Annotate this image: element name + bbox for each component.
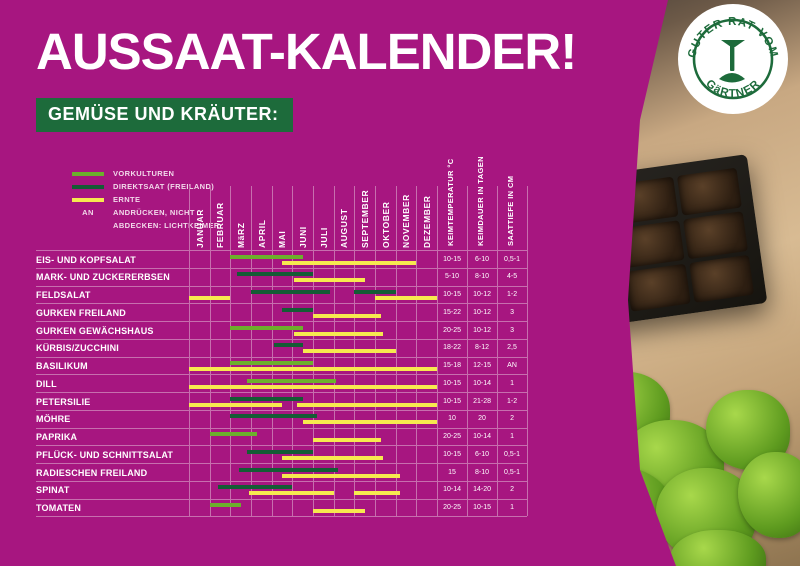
- month-header-september: SEPTEMBER: [360, 190, 370, 248]
- cell-saattiefe-0: 0,5-1: [497, 256, 527, 263]
- grid-line-horizontal: [36, 428, 527, 429]
- grid-line-horizontal: [36, 499, 527, 500]
- cell-saattiefe-9: 2: [497, 415, 527, 422]
- month-header-april: APRIL: [257, 190, 267, 248]
- cell-keimtemperatur-0: 10-15: [437, 256, 467, 263]
- grid-line-horizontal: [36, 357, 527, 358]
- cell-saattiefe-10: 1: [497, 433, 527, 440]
- bar-direktsaat-2-0: [251, 290, 330, 294]
- bar-ernte-3-1: [313, 314, 381, 318]
- cell-saattiefe-5: 2,5: [497, 344, 527, 351]
- grid-line-horizontal: [36, 445, 527, 446]
- grid-line-horizontal: [36, 463, 527, 464]
- bar-ernte-7-1: [189, 385, 437, 389]
- cell-saattiefe-1: 4-5: [497, 273, 527, 280]
- bar-vorkulturen-10-0: [210, 432, 258, 436]
- bar-direktsaat-8-0: [230, 397, 302, 401]
- cell-keimdauer-14: 10-15: [467, 504, 497, 511]
- bar-ernte-10-1: [313, 438, 381, 442]
- grid-line-horizontal: [36, 286, 527, 287]
- cell-keimdauer-4: 10-12: [467, 327, 497, 334]
- grid-line-horizontal: [36, 516, 527, 517]
- logo-badge: GUTER RAT VOM GäRTNER: [678, 4, 788, 114]
- bar-vorkulturen-0-0: [230, 255, 302, 259]
- bar-direktsaat-2-1: [354, 290, 395, 294]
- legend-swatch-vorkulturen: [72, 172, 104, 176]
- cell-keimtemperatur-1: 5-10: [437, 273, 467, 280]
- cell-keimdauer-7: 10-14: [467, 380, 497, 387]
- cell-keimtemperatur-14: 20-25: [437, 504, 467, 511]
- row-label-7: DILL: [36, 379, 57, 389]
- bar-direktsaat-9-0: [230, 414, 317, 418]
- cell-saattiefe-2: 1-2: [497, 291, 527, 298]
- cell-keimdauer-13: 14-20: [467, 486, 497, 493]
- row-label-14: TOMATEN: [36, 503, 81, 513]
- grid-line-vertical: [230, 186, 231, 516]
- cell-saattiefe-4: 3: [497, 327, 527, 334]
- bar-direktsaat-12-0: [239, 468, 338, 472]
- side-column-header-1: KEIMDAUER IN TAGEN: [476, 158, 485, 246]
- side-column-header-0: KEIMTEMPERATUR °C: [446, 158, 455, 246]
- grid-line-horizontal: [36, 268, 527, 269]
- grid-line-vertical: [396, 186, 397, 516]
- cell-keimdauer-11: 6-10: [467, 451, 497, 458]
- bar-direktsaat-5-0: [274, 343, 303, 347]
- bar-ernte-9-1: [303, 420, 437, 424]
- cell-keimdauer-9: 20: [467, 415, 497, 422]
- month-header-juni: JUNI: [298, 190, 308, 248]
- legend-item-vorkulturen: VORKULTUREN: [72, 167, 220, 180]
- grid-line-horizontal: [36, 250, 527, 251]
- bar-ernte-8-2: [297, 403, 438, 407]
- cell-keimtemperatur-10: 20-25: [437, 433, 467, 440]
- cell-keimdauer-10: 10-14: [467, 433, 497, 440]
- bar-ernte-0-1: [282, 261, 416, 265]
- cell-keimtemperatur-4: 20-25: [437, 327, 467, 334]
- cell-keimdauer-0: 6-10: [467, 256, 497, 263]
- cell-keimdauer-12: 8-10: [467, 469, 497, 476]
- row-label-12: RADIESCHEN FREILAND: [36, 468, 147, 478]
- month-header-februar: FEBRUAR: [215, 190, 225, 248]
- cell-saattiefe-11: 0,5-1: [497, 451, 527, 458]
- bar-ernte-2-2: [189, 296, 230, 300]
- cell-keimdauer-5: 8-12: [467, 344, 497, 351]
- legend-swatch-ernte: [72, 198, 104, 202]
- grid-line-vertical: [416, 186, 417, 516]
- row-label-9: MÖHRE: [36, 414, 71, 424]
- bar-ernte-14-1: [313, 509, 365, 513]
- grid-line-horizontal: [36, 321, 527, 322]
- grid-line-vertical: [210, 186, 211, 516]
- bar-ernte-12-1: [282, 474, 400, 478]
- month-header-oktober: OKTOBER: [381, 190, 391, 248]
- cell-keimdauer-8: 21-28: [467, 398, 497, 405]
- bar-ernte-13-1: [249, 491, 334, 495]
- cell-keimtemperatur-6: 15-18: [437, 362, 467, 369]
- grid-line-horizontal: [36, 410, 527, 411]
- side-column-header-2: SAATTIEFE IN CM: [506, 158, 515, 246]
- cell-keimtemperatur-9: 10: [437, 415, 467, 422]
- cell-saattiefe-6: AN: [497, 362, 527, 369]
- bar-direktsaat-13-0: [218, 485, 292, 489]
- cell-keimtemperatur-11: 10-15: [437, 451, 467, 458]
- bar-direktsaat-3-0: [282, 308, 313, 312]
- month-header-juli: JULI: [319, 190, 329, 248]
- month-header-dezember: DEZEMBER: [422, 190, 432, 248]
- row-label-1: MARK- UND ZUCKERERBSEN: [36, 272, 170, 282]
- cell-keimdauer-2: 10-12: [467, 291, 497, 298]
- row-label-3: GURKEN FREILAND: [36, 308, 126, 318]
- legend-swatch-direktsaat: [72, 185, 104, 189]
- cell-saattiefe-13: 2: [497, 486, 527, 493]
- row-label-0: EIS- UND KOPFSALAT: [36, 255, 136, 265]
- cell-keimtemperatur-7: 10-15: [437, 380, 467, 387]
- cell-saattiefe-7: 1: [497, 380, 527, 387]
- bar-ernte-13-2: [354, 491, 400, 495]
- bar-ernte-1-1: [294, 278, 364, 282]
- cell-keimdauer-3: 10-12: [467, 309, 497, 316]
- cell-saattiefe-12: 0,5-1: [497, 469, 527, 476]
- row-label-10: PAPRIKA: [36, 432, 77, 442]
- cell-keimtemperatur-12: 15: [437, 469, 467, 476]
- bar-ernte-8-1: [189, 403, 282, 407]
- month-header-januar: JANUAR: [195, 190, 205, 248]
- cell-keimtemperatur-5: 18-22: [437, 344, 467, 351]
- bar-direktsaat-11-0: [247, 450, 313, 454]
- month-header-mai: MAI: [277, 190, 287, 248]
- bar-ernte-2-3: [375, 296, 437, 300]
- grid-line-vertical: [527, 186, 528, 516]
- grid-line-horizontal: [36, 481, 527, 482]
- section-subtitle: GEMÜSE UND KRÄUTER:: [36, 98, 293, 132]
- row-label-4: GURKEN GEWÄCHSHAUS: [36, 326, 154, 336]
- bar-ernte-11-1: [282, 456, 383, 460]
- month-header-november: NOVEMBER: [401, 190, 411, 248]
- grid-line-vertical: [189, 186, 190, 516]
- cell-saattiefe-14: 1: [497, 504, 527, 511]
- bar-vorkulturen-4-0: [230, 326, 302, 330]
- bar-vorkulturen-6-0: [230, 361, 313, 365]
- grid-line-horizontal: [36, 392, 527, 393]
- cell-keimtemperatur-8: 10-15: [437, 398, 467, 405]
- row-label-8: PETERSILIE: [36, 397, 91, 407]
- bar-ernte-5-1: [303, 349, 396, 353]
- row-label-5: KÜRBIS/ZUCCHINI: [36, 343, 119, 353]
- bar-vorkulturen-14-0: [210, 503, 241, 507]
- month-header-august: AUGUST: [339, 190, 349, 248]
- grid-line-horizontal: [36, 303, 527, 304]
- cell-keimtemperatur-2: 10-15: [437, 291, 467, 298]
- cell-saattiefe-8: 1-2: [497, 398, 527, 405]
- bar-vorkulturen-7-0: [247, 379, 336, 383]
- shovel-icon: GUTER RAT VOM GäRTNER: [683, 9, 783, 109]
- grid-line-horizontal: [36, 374, 527, 375]
- bar-direktsaat-1-0: [237, 272, 314, 276]
- month-header-märz: MäRZ: [236, 190, 246, 248]
- row-label-11: PFLÜCK- UND SCHNITTSALAT: [36, 450, 173, 460]
- row-label-2: FELDSALAT: [36, 290, 91, 300]
- cell-keimdauer-1: 8-10: [467, 273, 497, 280]
- legend-abbr-an: AN: [72, 208, 104, 217]
- row-label-13: SPINAT: [36, 485, 70, 495]
- row-label-6: BASILIKUM: [36, 361, 88, 371]
- grid-line-horizontal: [36, 339, 527, 340]
- legend-label-vorkulturen: VORKULTUREN: [113, 169, 174, 178]
- cell-saattiefe-3: 3: [497, 309, 527, 316]
- cell-keimtemperatur-3: 15-22: [437, 309, 467, 316]
- legend-label-ernte: ERNTE: [113, 195, 140, 204]
- cell-keimtemperatur-13: 10-14: [437, 486, 467, 493]
- cell-keimdauer-6: 12-15: [467, 362, 497, 369]
- bar-ernte-6-1: [189, 367, 437, 371]
- bar-ernte-4-1: [294, 332, 383, 336]
- page-title: AUSSAAT-KALENDER!: [36, 26, 576, 77]
- legend-note-line1: ANDRÜCKEN, NICHT: [113, 208, 195, 217]
